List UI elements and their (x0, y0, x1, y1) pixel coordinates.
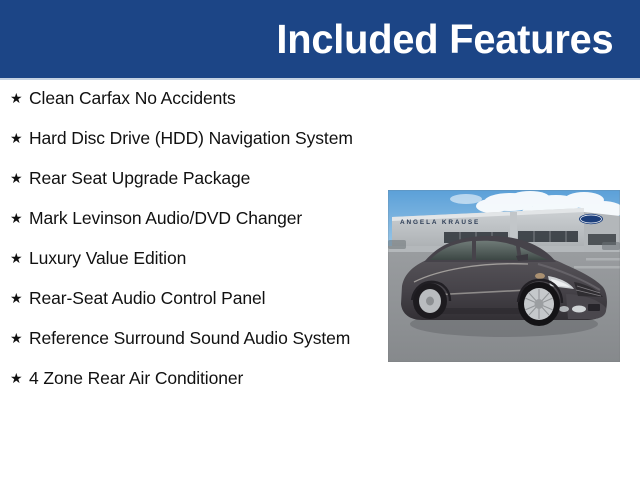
list-item-label: Rear Seat Upgrade Package (29, 166, 378, 190)
list-item-label: Reference Surround Sound Audio System (29, 326, 378, 350)
star-bullet-icon: ★ (10, 286, 29, 310)
star-bullet-icon: ★ (10, 246, 29, 270)
list-item-label: Luxury Value Edition (29, 246, 378, 270)
star-bullet-icon: ★ (10, 166, 29, 190)
star-bullet-icon: ★ (10, 86, 29, 110)
list-item: ★ Hard Disc Drive (HDD) Navigation Syste… (0, 126, 378, 150)
ford-oval-logo (579, 214, 603, 224)
list-item: ★ Mark Levinson Audio/DVD Changer (0, 206, 378, 230)
included-features-slide: Included Features ★ Clean Carfax No Acci… (0, 0, 640, 480)
star-bullet-icon: ★ (10, 206, 29, 230)
list-item: ★ Rear-Seat Audio Control Panel (0, 286, 378, 310)
list-item-label: Rear-Seat Audio Control Panel (29, 286, 378, 310)
star-bullet-icon: ★ (10, 126, 29, 150)
list-item: ★ Clean Carfax No Accidents (0, 86, 378, 110)
svg-text:ANGELA KRAUSE: ANGELA KRAUSE (400, 219, 480, 226)
vehicle-photo-graphic: ANGELA KRAUSE (388, 190, 620, 362)
list-item: ★ Luxury Value Edition (0, 246, 378, 270)
star-bullet-icon: ★ (10, 326, 29, 350)
list-item-label: 4 Zone Rear Air Conditioner (29, 366, 378, 390)
list-item-label: Clean Carfax No Accidents (29, 86, 378, 110)
features-list: ★ Clean Carfax No Accidents ★ Hard Disc … (0, 86, 378, 406)
star-bullet-icon: ★ (10, 366, 29, 390)
list-item-label: Hard Disc Drive (HDD) Navigation System (29, 126, 378, 150)
list-item: ★ Reference Surround Sound Audio System (0, 326, 378, 350)
list-item-label: Mark Levinson Audio/DVD Changer (29, 206, 378, 230)
page-title: Included Features (276, 17, 613, 61)
header-divider (0, 78, 640, 80)
list-item: ★ 4 Zone Rear Air Conditioner (0, 366, 378, 390)
list-item: ★ Rear Seat Upgrade Package (0, 166, 378, 190)
header-banner: Included Features (0, 0, 640, 78)
vehicle-photo: ANGELA KRAUSE (388, 190, 620, 362)
